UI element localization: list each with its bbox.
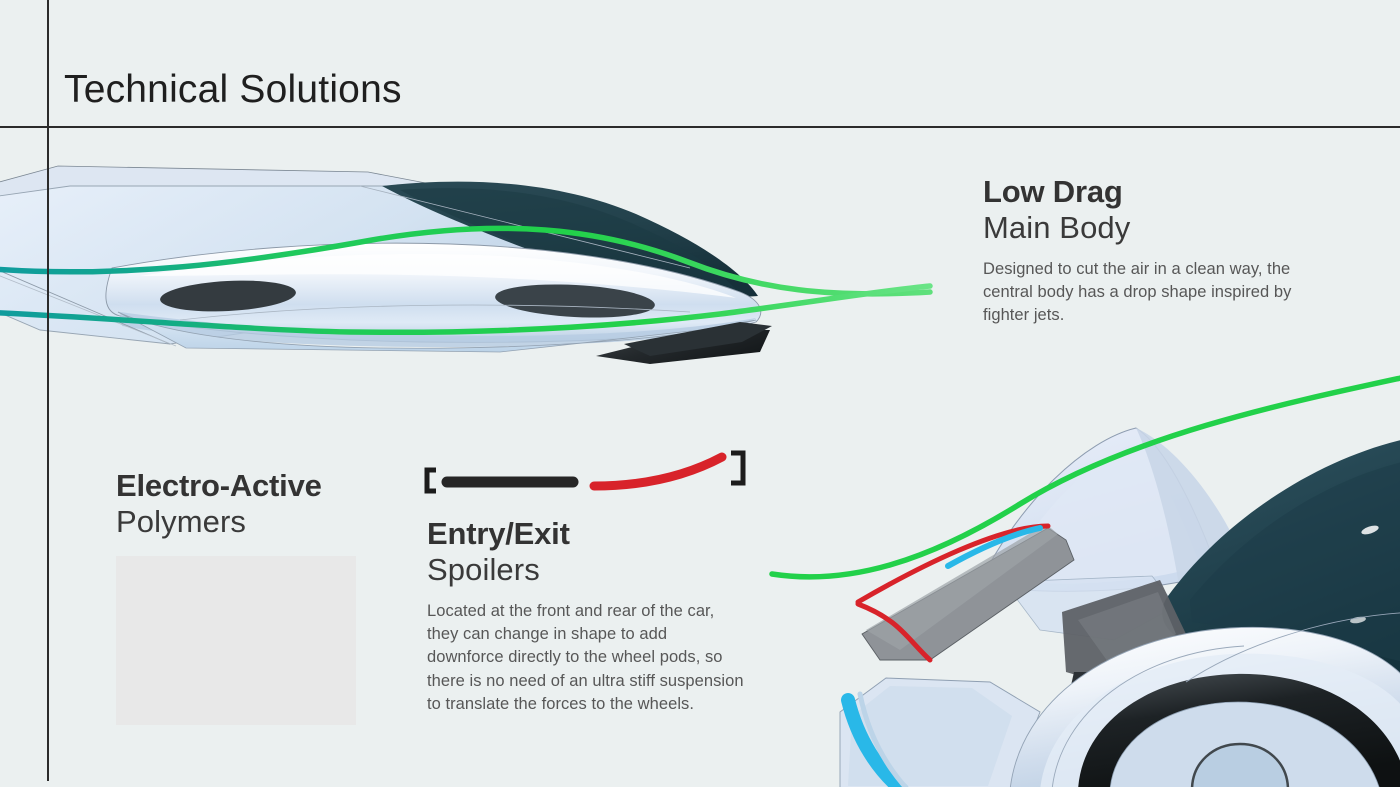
entry-exit-heading-bold: Entry/Exit [427,518,747,551]
car-top-illustration [0,166,772,364]
layout-guide-vertical [47,0,49,781]
electro-active-polymer-photo [116,556,356,725]
block-electro-active-polymers: Electro-Active Polymers [116,470,376,541]
page-title: Technical Solutions [64,70,402,109]
low-drag-heading-light: Main Body [983,209,1313,247]
eap-heading-bold: Electro-Active [116,470,376,503]
low-drag-heading-bold: Low Drag [983,176,1313,209]
eap-heading-light: Polymers [116,503,376,541]
airflow-lines-top [0,228,930,332]
header-divider-horizontal [0,126,1400,128]
entry-exit-body: Located at the front and rear of the car… [427,600,747,715]
block-low-drag: Low Drag Main Body Designed to cut the a… [983,176,1313,328]
car-bottom-illustration [840,428,1400,787]
entry-exit-heading-light: Spoilers [427,551,747,589]
slide-canvas: Technical Solutions Low Drag Main Body D… [0,0,1400,787]
airflow-line-bottom [772,376,1400,577]
low-drag-body: Designed to cut the air in a clean way, … [983,258,1313,327]
spoiler-morph-diagram [420,446,760,500]
block-entry-exit-spoilers: Entry/Exit Spoilers Located at the front… [427,518,747,716]
